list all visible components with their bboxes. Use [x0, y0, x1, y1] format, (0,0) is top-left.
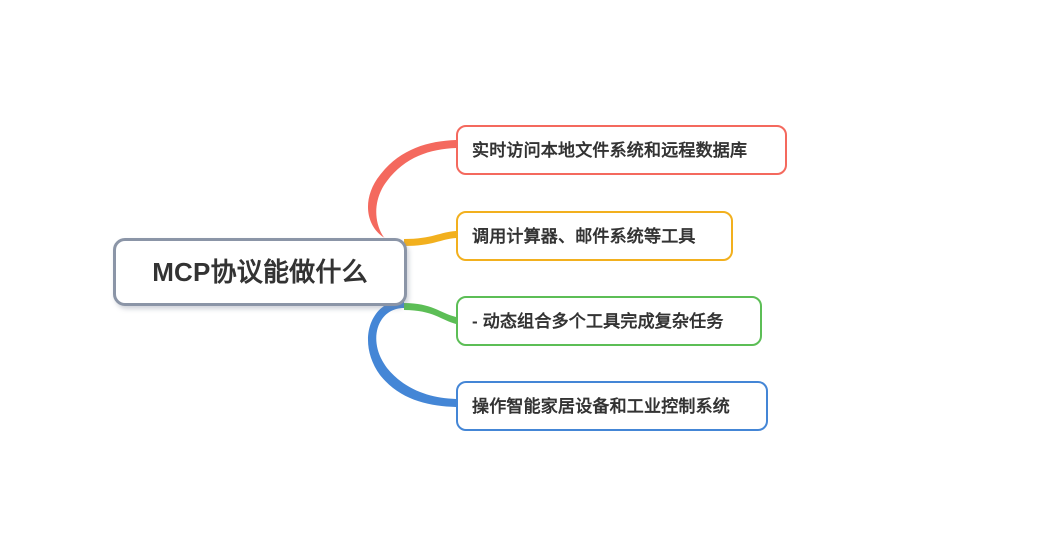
mindmap-branch-node-1[interactable]: 调用计算器、邮件系统等工具	[456, 211, 733, 261]
branch-node-3-label: 操作智能家居设备和工业控制系统	[472, 398, 730, 415]
branch-node-2-label: - 动态组合多个工具完成复杂任务	[472, 313, 724, 330]
connector-branch-2	[404, 303, 456, 324]
connector-branch-0	[368, 140, 456, 251]
mindmap-canvas: MCP协议能做什么 实时访问本地文件系统和远程数据库 调用计算器、邮件系统等工具…	[0, 0, 1046, 539]
mindmap-root-node[interactable]: MCP协议能做什么	[113, 238, 407, 306]
connector-branch-3	[368, 300, 456, 407]
connector-branch-1	[404, 231, 456, 246]
branch-node-0-label: 实时访问本地文件系统和远程数据库	[472, 142, 747, 159]
mindmap-branch-node-0[interactable]: 实时访问本地文件系统和远程数据库	[456, 125, 787, 175]
root-node-label: MCP协议能做什么	[152, 259, 368, 285]
branch-node-1-label: 调用计算器、邮件系统等工具	[472, 228, 696, 245]
mindmap-branch-node-2[interactable]: - 动态组合多个工具完成复杂任务	[456, 296, 762, 346]
mindmap-branch-node-3[interactable]: 操作智能家居设备和工业控制系统	[456, 381, 768, 431]
